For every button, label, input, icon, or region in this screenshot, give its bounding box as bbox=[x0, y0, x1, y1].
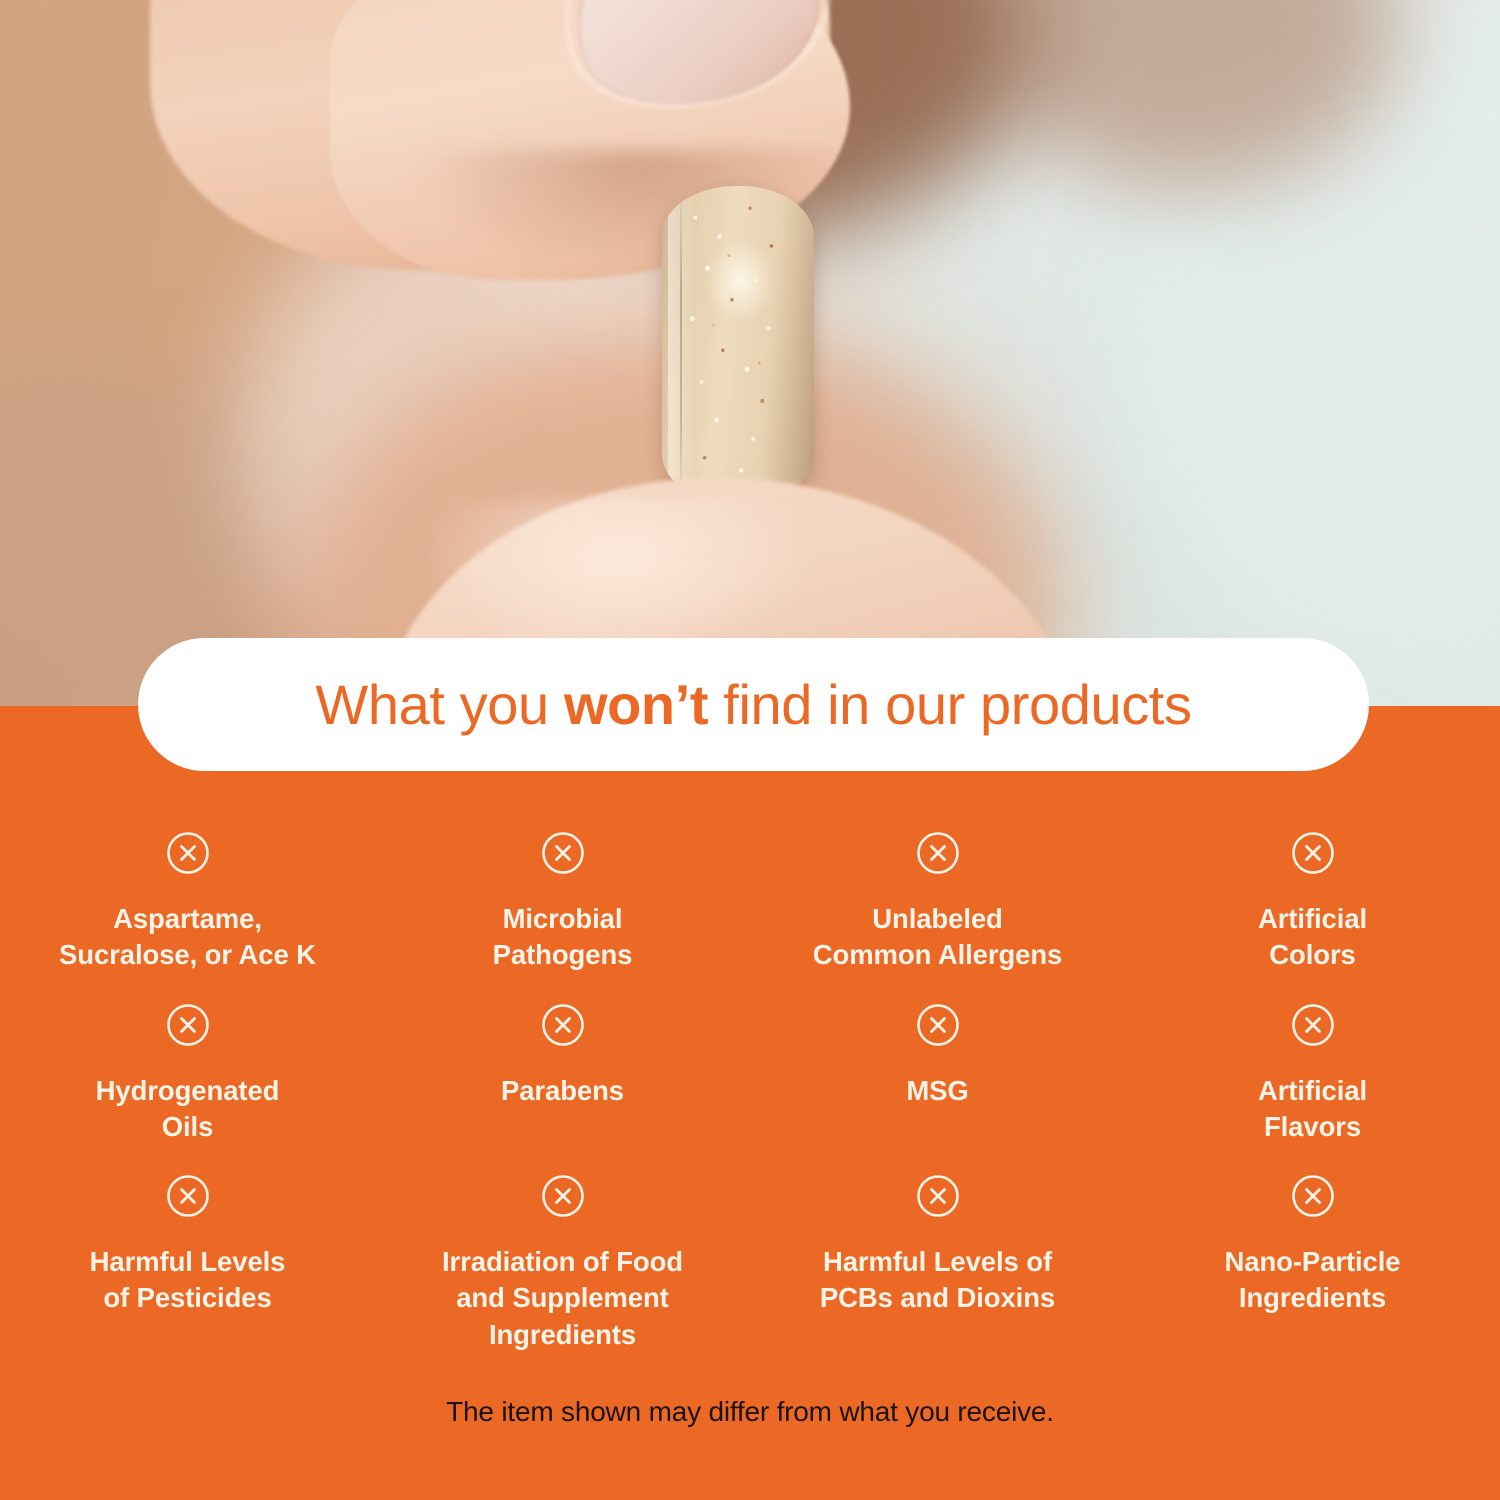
circle-x-icon bbox=[540, 830, 586, 876]
circle-x-icon bbox=[915, 1002, 961, 1048]
circle-x-icon bbox=[915, 1173, 961, 1219]
circle-x-icon bbox=[1290, 1002, 1336, 1048]
circle-x-icon bbox=[540, 1173, 586, 1219]
exclusion-item-label: Harmful Levels of PCBs and Dioxins bbox=[820, 1244, 1055, 1317]
exclusion-item: Nano-Particle Ingredients bbox=[1125, 1169, 1500, 1353]
exclusion-item-label: Harmful Levels of Pesticides bbox=[90, 1244, 286, 1317]
exclusion-item: Parabens bbox=[375, 998, 750, 1146]
exclusion-item: Unlabeled Common Allergens bbox=[750, 826, 1125, 974]
exclusion-item-label: Parabens bbox=[501, 1073, 624, 1109]
circle-x-icon bbox=[540, 1002, 586, 1048]
exclusion-item-label: Hydrogenated Oils bbox=[96, 1073, 280, 1146]
page-title: What you won’t find in our products bbox=[315, 677, 1191, 733]
tablet-seam bbox=[680, 186, 682, 502]
circle-x-icon bbox=[1290, 1173, 1336, 1219]
exclusion-item: Irradiation of Food and Supplement Ingre… bbox=[375, 1169, 750, 1353]
supplement-tablet bbox=[662, 186, 814, 502]
exclusion-item: Microbial Pathogens bbox=[375, 826, 750, 974]
exclusion-item-label: MSG bbox=[906, 1073, 968, 1109]
headline-banner: What you won’t find in our products bbox=[138, 638, 1369, 771]
circle-x-icon bbox=[165, 1173, 211, 1219]
exclusion-item-label: Artificial Colors bbox=[1258, 901, 1367, 974]
exclusion-item-label: Nano-Particle Ingredients bbox=[1225, 1244, 1401, 1317]
excluded-ingredients-grid: Aspartame, Sucralose, or Ace K Microbial… bbox=[0, 826, 1500, 1353]
exclusion-item-label: Aspartame, Sucralose, or Ace K bbox=[59, 901, 316, 974]
circle-x-icon bbox=[1290, 830, 1336, 876]
page-title-emphasis: won’t bbox=[564, 673, 708, 736]
exclusion-item: Hydrogenated Oils bbox=[0, 998, 375, 1146]
exclusion-item: Harmful Levels of Pesticides bbox=[0, 1169, 375, 1353]
exclusion-item: Aspartame, Sucralose, or Ace K bbox=[0, 826, 375, 974]
exclusion-item: MSG bbox=[750, 998, 1125, 1146]
circle-x-icon bbox=[915, 830, 961, 876]
product-infographic-page: What you won’t find in our products Aspa… bbox=[0, 0, 1500, 1500]
circle-x-icon bbox=[165, 830, 211, 876]
product-photo bbox=[0, 0, 1500, 706]
exclusion-item-label: Microbial Pathogens bbox=[493, 901, 633, 974]
exclusion-item: Artificial Colors bbox=[1125, 826, 1500, 974]
circle-x-icon bbox=[165, 1002, 211, 1048]
disclaimer-text: The item shown may differ from what you … bbox=[0, 1396, 1500, 1428]
exclusion-item-label: Artificial Flavors bbox=[1258, 1073, 1367, 1146]
exclusion-item: Harmful Levels of PCBs and Dioxins bbox=[750, 1169, 1125, 1353]
page-title-part2: find in our products bbox=[708, 673, 1191, 736]
exclusion-item-label: Unlabeled Common Allergens bbox=[813, 901, 1063, 974]
exclusion-item-label: Irradiation of Food and Supplement Ingre… bbox=[442, 1244, 683, 1353]
tablet-speckles bbox=[662, 186, 814, 502]
exclusion-item: Artificial Flavors bbox=[1125, 998, 1500, 1146]
page-title-part1: What you bbox=[315, 673, 564, 736]
